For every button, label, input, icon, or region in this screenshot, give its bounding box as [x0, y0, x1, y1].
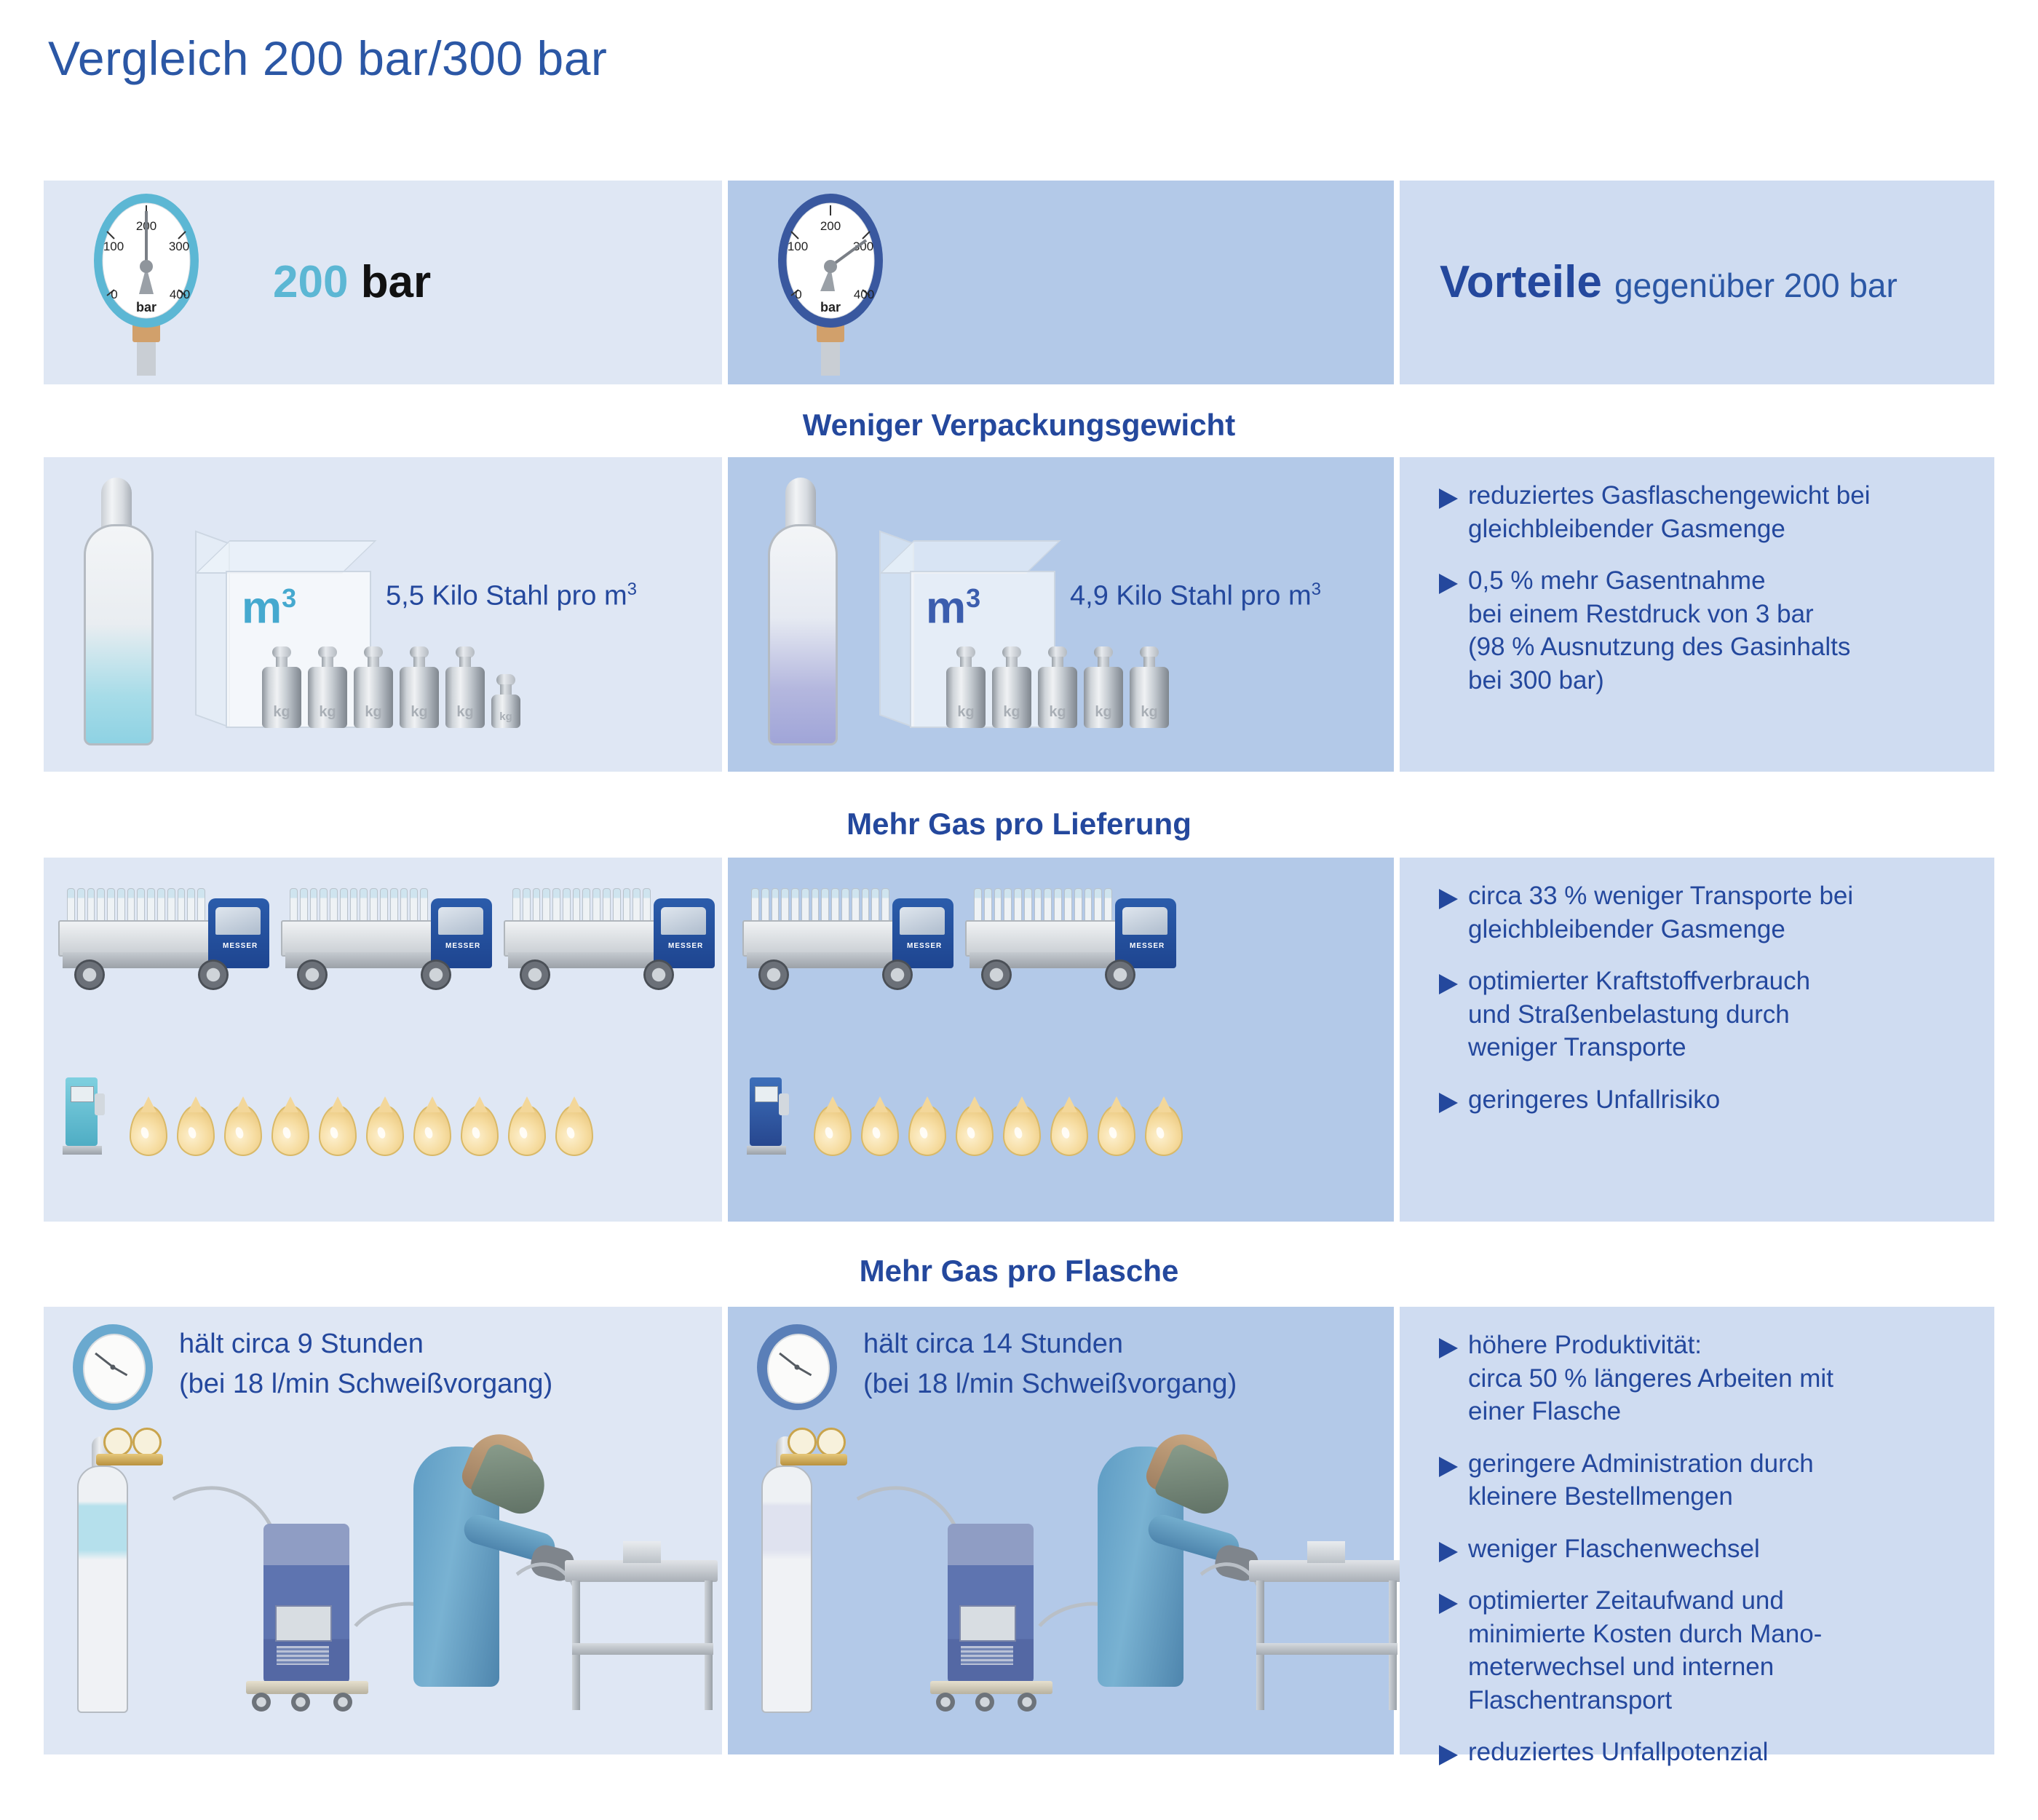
- cube-label-300: m3: [926, 585, 980, 631]
- row3-panel-300bar: hält circa 14 Stunden (bei 18 l/min Schw…: [728, 1307, 1394, 1754]
- row1-panel-200bar: m3 kgkgkgkgkgkg 5,5 Kilo Stahl pro m3: [44, 457, 722, 772]
- bullet-triangle-icon: [1436, 486, 1468, 545]
- list-item: geringeres Unfallrisiko: [1436, 1083, 1980, 1117]
- svg-text:400: 400: [854, 288, 874, 301]
- bullet-text: weniger Flaschenwechsel: [1468, 1532, 1760, 1566]
- bullet-triangle-icon: [1436, 571, 1468, 697]
- fuel-drop: [1050, 1105, 1088, 1156]
- section-heading-1: Weniger Verpackungsgewicht: [0, 408, 2038, 443]
- fuel-drop: [956, 1105, 994, 1156]
- pressure-gauge-200-icon: 200 100 300 0 400 bar: [73, 188, 211, 377]
- weight-kg: kg: [308, 646, 347, 728]
- header-label-200bar: 200 bar: [273, 260, 431, 305]
- caption-steel-per-m3-200: 5,5 Kilo Stahl pro m3: [386, 579, 637, 612]
- duration-text-200: hält circa 9 Stunden (bei 18 l/min Schwe…: [179, 1324, 552, 1404]
- gas-cylinder-200-icon: [84, 478, 149, 745]
- page-title: Vergleich 200 bar/300 bar: [48, 31, 607, 86]
- clock-icon-200: [73, 1324, 153, 1410]
- weight-kg: kg: [262, 646, 301, 728]
- advantages-list-1: reduziertes Gasflaschengewicht bei gleic…: [1436, 479, 1980, 716]
- fuel-drop: [319, 1105, 357, 1156]
- welding-scene-300: [735, 1431, 1376, 1722]
- row3-panel-200bar: hält circa 9 Stunden (bei 18 l/min Schwe…: [44, 1307, 722, 1754]
- svg-text:300: 300: [169, 240, 189, 253]
- cube-label-200: m3: [242, 585, 296, 631]
- bullet-text: circa 33 % weniger Transporte bei gleich…: [1468, 879, 1853, 946]
- bullet-triangle-icon: [1436, 1336, 1468, 1428]
- duration-line2-300: (bei 18 l/min Schweißvorgang): [863, 1364, 1237, 1404]
- fuel-drop: [1098, 1105, 1135, 1156]
- fuel-drop: [366, 1105, 404, 1156]
- duration-line1-200: hält circa 9 Stunden: [179, 1324, 552, 1364]
- row3-panel-advantages: höhere Produktivität: circa 50 % längere…: [1400, 1307, 1994, 1754]
- list-item: geringere Administration durch kleinere …: [1436, 1447, 1980, 1514]
- delivery-truck: MESSER: [965, 882, 1178, 992]
- fuel-drop: [461, 1105, 499, 1156]
- fuel-drop: [130, 1105, 167, 1156]
- header-number-200: 200: [273, 257, 348, 307]
- fuel-drop: [413, 1105, 451, 1156]
- fuel-drop: [861, 1105, 899, 1156]
- bullet-triangle-icon: [1436, 1743, 1468, 1769]
- bullet-triangle-icon: [1436, 1591, 1468, 1717]
- row2-panel-300bar: MESSERMESSER: [728, 858, 1394, 1222]
- caption-steel-per-m3-300: 4,9 Kilo Stahl pro m3: [1070, 579, 1321, 612]
- bullet-triangle-icon: [1436, 1455, 1468, 1514]
- fuel-drops-200: [130, 1105, 593, 1156]
- truck-logo: MESSER: [223, 942, 258, 951]
- list-item: reduziertes Unfallpotenzial: [1436, 1736, 1980, 1769]
- infographic-page: Vergleich 200 bar/300 bar 200 100 300 0 …: [0, 0, 2038, 1820]
- duration-line2-200: (bei 18 l/min Schweißvorgang): [179, 1364, 552, 1404]
- list-item: 0,5 % mehr Gasentnahme bei einem Restdru…: [1436, 564, 1980, 697]
- svg-text:100: 100: [103, 240, 124, 253]
- header-unit-200: bar: [361, 257, 431, 307]
- fuel-drop: [1145, 1105, 1183, 1156]
- bullet-text: 0,5 % mehr Gasentnahme bei einem Restdru…: [1468, 564, 1850, 697]
- truck-logo: MESSER: [445, 942, 480, 951]
- list-item: optimierter Kraftstoffverbrauch und Stra…: [1436, 965, 1980, 1064]
- bullet-text: reduziertes Gasflaschengewicht bei gleic…: [1468, 479, 1871, 545]
- header-panel-200bar: 200 100 300 0 400 bar 200 bar: [44, 181, 722, 384]
- truck-logo: MESSER: [1130, 942, 1165, 951]
- bullet-text: optimierter Zeitaufwand und minimierte K…: [1468, 1584, 1822, 1717]
- pressure-gauge-300-icon: 200 100 300 0 400 bar: [757, 188, 895, 377]
- advantages-title-light: gegenüber 200 bar: [1614, 266, 1898, 304]
- fuel-drop: [555, 1105, 593, 1156]
- header-panel-advantages: Vorteile gegenüber 200 bar: [1400, 181, 1994, 384]
- fuel-drop: [271, 1105, 309, 1156]
- weight-kg: kg: [1038, 646, 1077, 728]
- duration-text-300: hält circa 14 Stunden (bei 18 l/min Schw…: [863, 1324, 1237, 1404]
- list-item: weniger Flaschenwechsel: [1436, 1532, 1980, 1566]
- bullet-text: optimierter Kraftstoffverbrauch und Stra…: [1468, 965, 1810, 1064]
- list-item: circa 33 % weniger Transporte bei gleich…: [1436, 879, 1980, 946]
- list-item: höhere Produktivität: circa 50 % längere…: [1436, 1329, 1980, 1428]
- header-panel-300bar: 200 100 300 0 400 bar 300 bar: [728, 181, 1394, 384]
- weight-kg: kg: [946, 646, 986, 728]
- svg-text:100: 100: [788, 240, 808, 253]
- row2-panel-advantages: circa 33 % weniger Transporte bei gleich…: [1400, 858, 1994, 1222]
- row1-panel-300bar: m3 kgkgkgkgkg 4,9 Kilo Stahl pro m3: [728, 457, 1394, 772]
- fuel-drop: [908, 1105, 946, 1156]
- advantages-title-strong: Vorteile: [1440, 257, 1602, 307]
- advantages-list-3: höhere Produktivität: circa 50 % längere…: [1436, 1329, 1980, 1788]
- list-item: reduziertes Gasflaschengewicht bei gleic…: [1436, 479, 1980, 545]
- fuel-drops-300: [814, 1105, 1183, 1156]
- weight-kg: kg: [400, 646, 439, 728]
- bullet-text: geringeres Unfallrisiko: [1468, 1083, 1720, 1117]
- delivery-truck: MESSER: [281, 882, 493, 992]
- bullet-triangle-icon: [1436, 1091, 1468, 1117]
- svg-text:0: 0: [111, 288, 117, 301]
- delivery-truck: MESSER: [504, 882, 716, 992]
- steel-weights-200: kgkgkgkgkgkg: [262, 646, 520, 728]
- bullet-text: reduziertes Unfallpotenzial: [1468, 1736, 1768, 1769]
- row2-panel-200bar: MESSERMESSERMESSER: [44, 858, 722, 1222]
- section-heading-3: Mehr Gas pro Flasche: [0, 1254, 2038, 1289]
- fuel-pump-200-icon: [66, 1077, 106, 1158]
- duration-line1-300: hält circa 14 Stunden: [863, 1324, 1237, 1364]
- steel-weights-300: kgkgkgkgkg: [946, 646, 1169, 728]
- svg-text:0: 0: [795, 288, 801, 301]
- weight-kg: kg: [992, 646, 1031, 728]
- fuel-pump-300-icon: [750, 1077, 790, 1158]
- fuel-drop: [814, 1105, 852, 1156]
- fuel-drop: [508, 1105, 546, 1156]
- weight-kg: kg: [445, 646, 485, 728]
- truck-logo: MESSER: [668, 942, 703, 951]
- delivery-truck: MESSER: [742, 882, 955, 992]
- truck-logo: MESSER: [907, 942, 942, 951]
- fuel-drop: [177, 1105, 215, 1156]
- weight-kg: kg: [354, 646, 393, 728]
- section-heading-2: Mehr Gas pro Lieferung: [0, 807, 2038, 842]
- svg-text:200: 200: [820, 219, 841, 233]
- gas-cylinder-300-icon: [768, 478, 833, 745]
- svg-text:bar: bar: [136, 300, 156, 314]
- clock-icon-300: [757, 1324, 837, 1410]
- weight-kg-half: kg: [491, 674, 520, 728]
- svg-text:bar: bar: [820, 300, 841, 314]
- advantages-title: Vorteile gegenüber 200 bar: [1440, 260, 1898, 305]
- fuel-drop: [224, 1105, 262, 1156]
- bullet-triangle-icon: [1436, 972, 1468, 1064]
- delivery-truck: MESSER: [58, 882, 271, 992]
- bullet-triangle-icon: [1436, 887, 1468, 946]
- bullet-text: geringere Administration durch kleinere …: [1468, 1447, 1814, 1514]
- weight-kg: kg: [1084, 646, 1123, 728]
- svg-text:400: 400: [170, 288, 190, 301]
- advantages-list-2: circa 33 % weniger Transporte bei gleich…: [1436, 879, 1980, 1135]
- bullet-triangle-icon: [1436, 1540, 1468, 1566]
- weight-kg: kg: [1130, 646, 1169, 728]
- bullet-text: höhere Produktivität: circa 50 % längere…: [1468, 1329, 1833, 1428]
- list-item: optimierter Zeitaufwand und minimierte K…: [1436, 1584, 1980, 1717]
- fuel-drop: [1003, 1105, 1041, 1156]
- welding-scene-200: [51, 1431, 691, 1722]
- row1-panel-advantages: reduziertes Gasflaschengewicht bei gleic…: [1400, 457, 1994, 772]
